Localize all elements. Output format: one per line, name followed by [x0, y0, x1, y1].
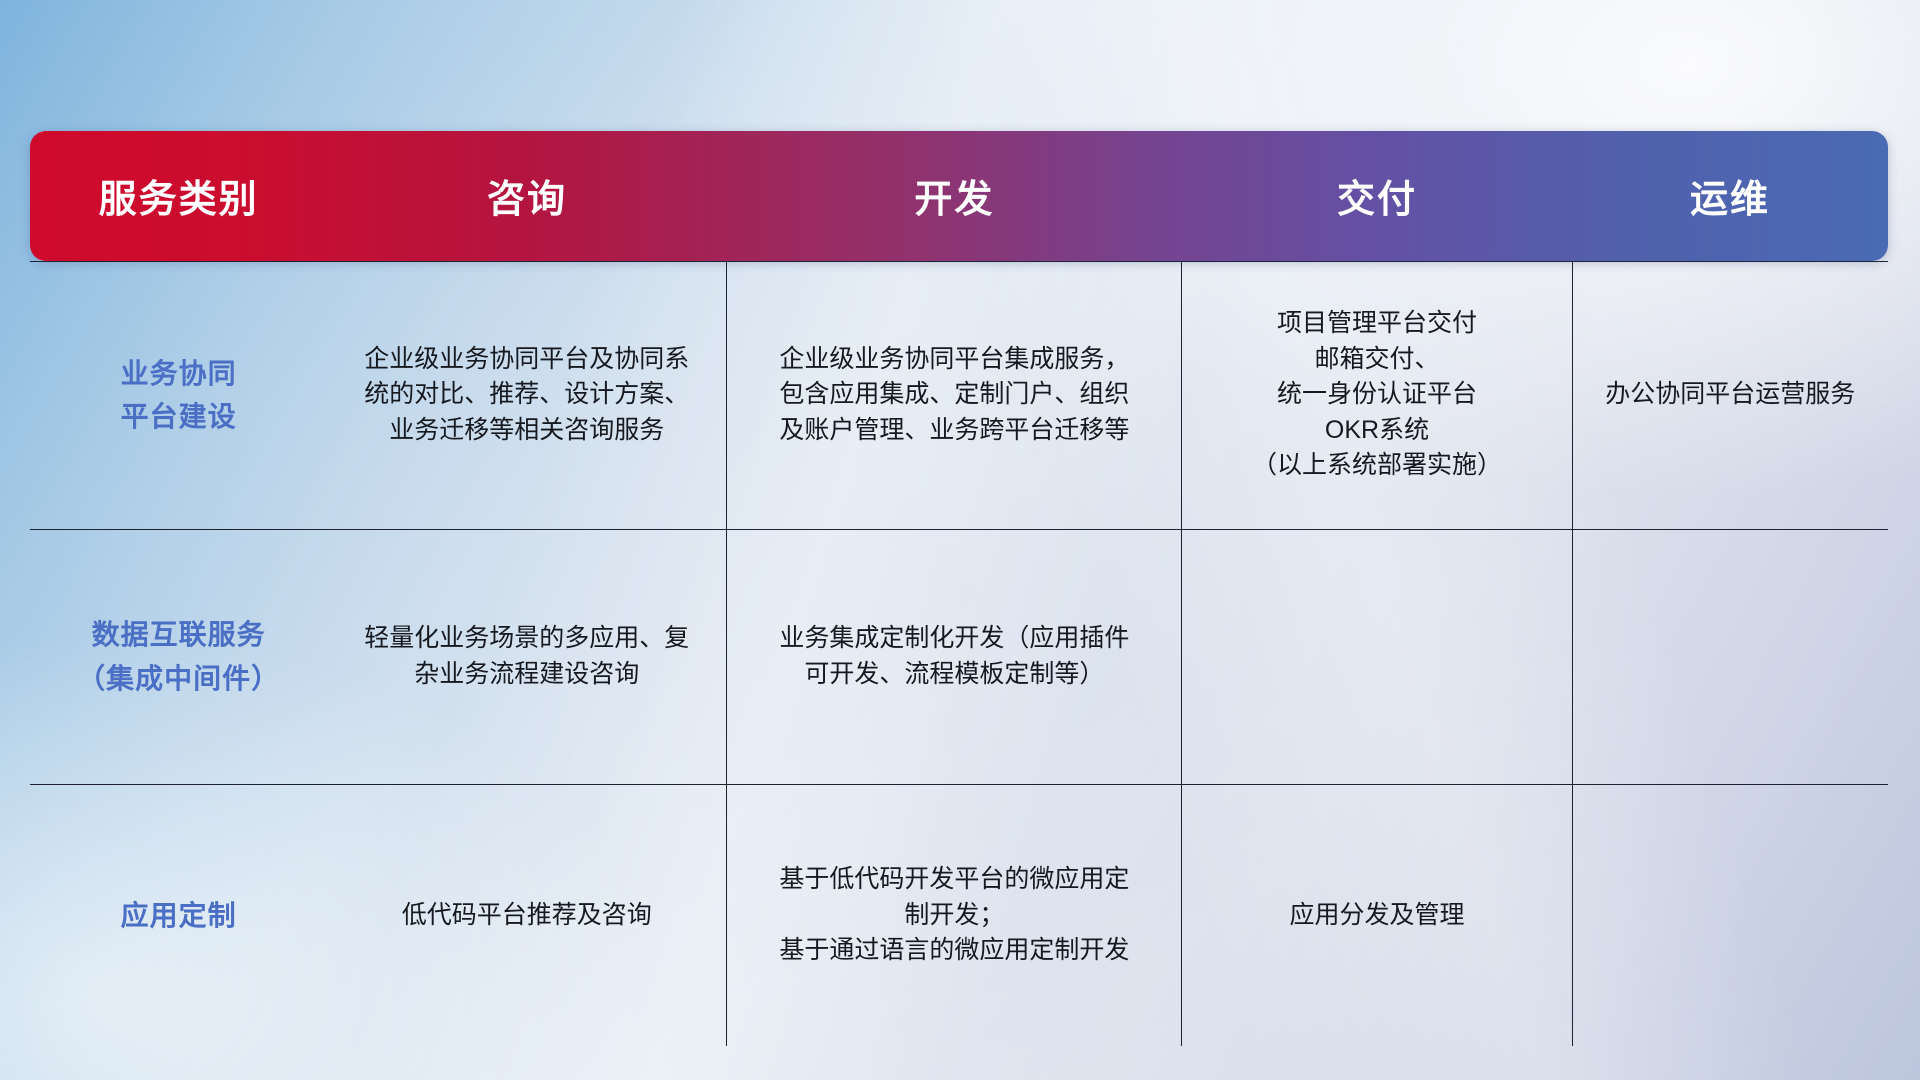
cell-operations-business-collaboration: 办公协同平台运营服务 [1572, 261, 1888, 529]
service-table: 服务类别 咨询 开发 交付 运维 [30, 131, 1888, 1046]
header-cell-operations: 运维 [1572, 131, 1888, 261]
service-matrix-table: 服务类别 咨询 开发 交付 运维 [30, 131, 1888, 951]
cell-development-app-customization: 基于低代码开发平台的微应用定 制开发； 基于通过语言的微应用定制开发 [727, 784, 1182, 1046]
header-label-development: 开发 [914, 179, 994, 221]
header-label-consulting: 咨询 [487, 179, 567, 221]
header-label-operations: 运维 [1690, 179, 1770, 221]
cell-consulting-business-collaboration: 企业级业务协同平台及协同系 统的对比、推荐、设计方案、 业务迁移等相关咨询服务 [327, 261, 726, 529]
table-row: 数据互联服务 （集成中间件） 轻量化业务场景的多应用、复 杂业务流程建设咨询 业… [30, 529, 1888, 784]
cell-delivery-app-customization: 应用分发及管理 [1182, 784, 1572, 1046]
cell-operations-app-customization [1572, 784, 1888, 1046]
header-label-delivery: 交付 [1337, 179, 1417, 221]
header-cell-consulting: 咨询 [327, 131, 726, 261]
cell-operations-data-interconnect [1572, 529, 1888, 784]
cell-category-app-customization: 应用定制 [30, 784, 327, 1046]
cell-category-business-collaboration: 业务协同 平台建设 [30, 261, 327, 529]
table-row: 应用定制 低代码平台推荐及咨询 基于低代码开发平台的微应用定 制开发； 基于通过… [30, 784, 1888, 1046]
table-body: 业务协同 平台建设 企业级业务协同平台及协同系 统的对比、推荐、设计方案、 业务… [30, 261, 1888, 1046]
cell-development-data-interconnect: 业务集成定制化开发（应用插件 可开发、流程模板定制等） [727, 529, 1182, 784]
table-header-row: 服务类别 咨询 开发 交付 运维 [30, 131, 1888, 261]
slide-canvas: 服务类别 咨询 开发 交付 运维 [0, 0, 1920, 1080]
header-label-category: 服务类别 [99, 179, 259, 221]
header-cell-development: 开发 [727, 131, 1182, 261]
table-row: 业务协同 平台建设 企业级业务协同平台及协同系 统的对比、推荐、设计方案、 业务… [30, 261, 1888, 529]
cell-consulting-app-customization: 低代码平台推荐及咨询 [327, 784, 726, 1046]
header-cell-delivery: 交付 [1182, 131, 1572, 261]
cell-category-data-interconnect: 数据互联服务 （集成中间件） [30, 529, 327, 784]
header-cell-category: 服务类别 [30, 131, 327, 261]
table-header: 服务类别 咨询 开发 交付 运维 [30, 131, 1888, 261]
cell-consulting-data-interconnect: 轻量化业务场景的多应用、复 杂业务流程建设咨询 [327, 529, 726, 784]
cell-development-business-collaboration: 企业级业务协同平台集成服务， 包含应用集成、定制门户、组织 及账户管理、业务跨平… [727, 261, 1182, 529]
cell-delivery-business-collaboration: 项目管理平台交付 邮箱交付、 统一身份认证平台 OKR系统 （以上系统部署实施） [1182, 261, 1572, 529]
cell-delivery-data-interconnect [1182, 529, 1572, 784]
